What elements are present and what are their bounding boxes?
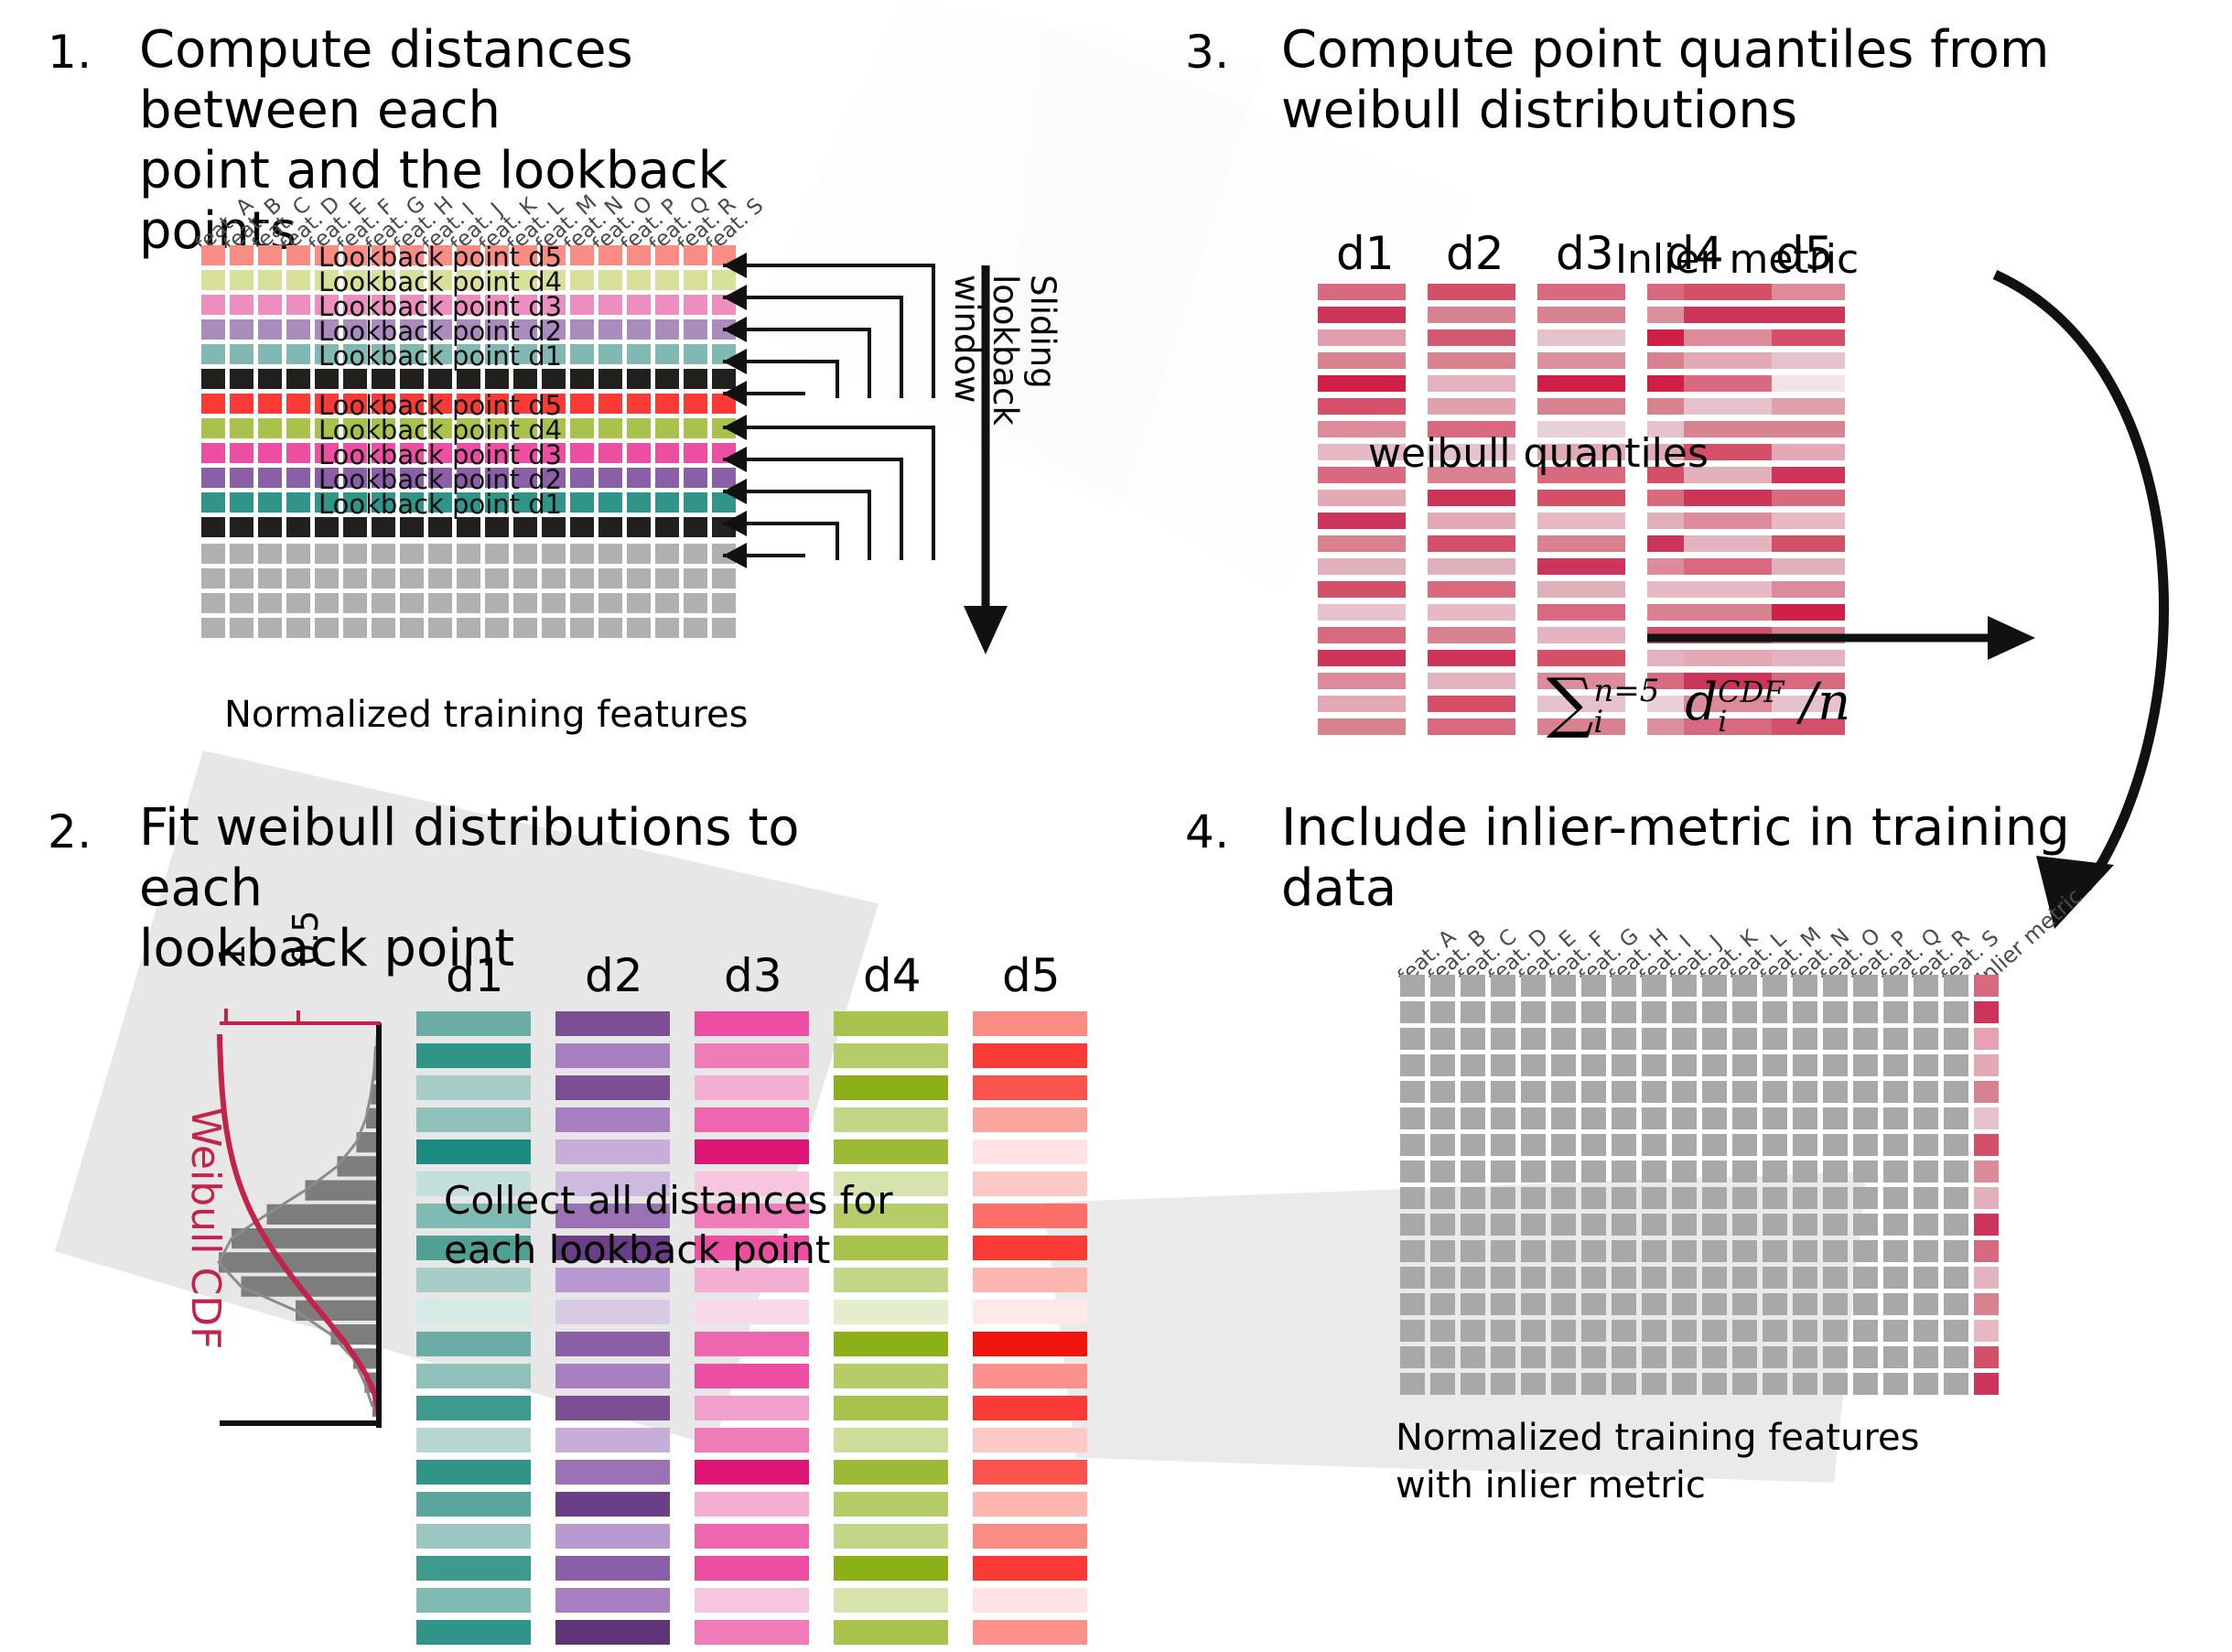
panel4-feature-cell [1853,1373,1878,1395]
panel2-bar [416,1620,531,1645]
panel4-feature-cell [1430,1107,1455,1129]
panel1-grey-cell [315,593,339,613]
panel1-grey-cell [627,593,651,613]
panel1-grey-cell [570,568,594,588]
panel4-inlier-metric-cell [1974,1081,1999,1103]
panel4-feature-cell [1702,1293,1727,1315]
panel1-cell [258,319,282,340]
panel2-bar [834,1139,948,1164]
panel1-grey-cell [201,618,225,638]
panel1-grey-cell [400,544,424,564]
panel4-row [1400,1214,1999,1236]
panel3-bar [1318,490,1406,506]
panel4-feature-cell [1914,1187,1938,1209]
panel2-bar [555,1043,670,1068]
panel2-column-d1 [416,1011,531,1652]
panel4-feature-cell [1944,1028,1968,1050]
panel1-grey-cell [485,618,509,638]
panel2-bar [695,1524,809,1549]
panel1-cell [230,369,253,389]
panel3-bar [1428,513,1515,529]
panel4-feature-cell [1914,1240,1938,1262]
panel4-feature-cell [1400,1214,1425,1236]
panel1-grey-cell [457,593,480,613]
panel4-feature-cell [1521,1293,1546,1315]
panel1-cell [201,492,225,513]
panel2-bar [555,1524,670,1549]
panel4-feature-cell [1581,1267,1606,1289]
panel4-feature-cell [1551,1267,1576,1289]
panel4-feature-cell [1612,1240,1636,1262]
panel4-feature-cell [1732,1107,1757,1129]
panel1-grey-cell [485,593,509,613]
panel4-feature-cell [1430,1028,1455,1050]
panel4-feature-cell [1521,1346,1546,1368]
panel2-bar [973,1172,1087,1196]
panel3-bar [1428,398,1515,415]
panel4-feature-cell [1672,1161,1697,1182]
panel2-bar [695,1011,809,1036]
panel1-cell [343,517,367,537]
panel1-cell [286,245,310,265]
panel4-feature-cell [1883,1240,1908,1262]
panel4-inlier-metric-cell [1974,1028,1999,1050]
panel4-feature-cell [1702,1346,1727,1368]
panel4-feature-cell [1763,1293,1787,1315]
panel1-cell [485,517,509,537]
panel4-feature-cell [1883,1001,1908,1023]
panel2-bar [695,1075,809,1100]
panel4-feature-cell [1612,1134,1636,1156]
panel2-bar [555,1300,670,1324]
panel1-grey-cell [655,544,679,564]
panel1-cell [684,344,707,364]
panel1-cell [457,369,480,389]
panel4-row [1400,1320,1999,1342]
panel4-feature-cell [1702,1107,1727,1129]
panel3-inlier-bar [1684,375,1772,392]
panel4-feature-cell [1642,1134,1666,1156]
panel2-bar [834,1620,948,1645]
panel2-bar [555,1332,670,1356]
panel4-inlier-metric-cell [1974,1001,1999,1023]
panel1-cell [655,270,679,290]
panel1-cell [598,245,622,265]
panel3-bar [1537,490,1625,506]
panel1-cell [627,245,651,265]
panel4-feature-cell [1672,1240,1697,1262]
panel2-bar [834,1428,948,1452]
panel2-column-label-d1: d1 [446,949,504,1002]
panel4-feature-cell [1430,1161,1455,1182]
step-4-title: Include inlier-metric in training data [1281,798,2105,919]
panel3-bar [1428,718,1515,735]
panel2-bar [555,1075,670,1100]
panel4-feature-cell [1461,1107,1485,1129]
panel2-bar [973,1107,1087,1132]
panel4-feature-cell [1914,975,1938,997]
panel4-feature-cell [1612,1161,1636,1182]
panel2-bar [973,1332,1087,1356]
panel4-feature-cell [1793,1001,1817,1023]
panel4-feature-cell [1612,1028,1636,1050]
panel4-feature-cell [1763,1187,1787,1209]
panel4-feature-cell [1581,1373,1606,1395]
panel1-cell [230,344,253,364]
panel4-feature-cell [1551,1214,1576,1236]
panel4-feature-cell [1400,975,1425,997]
panel4-feature-cell [1551,1293,1576,1315]
panel4-row [1400,1028,1999,1050]
panel4-feature-cell [1793,1054,1817,1076]
panel1-cell [286,418,310,438]
panel2-bar [973,1043,1087,1068]
panel4-feature-cell [1793,1293,1817,1315]
panel1-cell [286,517,310,537]
panel4-feature-cell [1944,1240,1968,1262]
panel3-bar [1428,673,1515,689]
panel4-feature-cell [1944,1373,1968,1395]
panel1-grey-row [201,568,740,588]
panel4-feature-cell [1702,1028,1727,1050]
panel1-cell [201,319,225,340]
panel4-feature-cell [1914,1373,1938,1395]
panel2-bar [555,1396,670,1420]
panel4-feature-cell [1883,1373,1908,1395]
panel4-feature-cell [1491,1346,1515,1368]
panel2-column-label-d3: d3 [724,949,782,1002]
panel2-bar [695,1588,809,1613]
panel1-grey-cell [542,618,566,638]
panel1-cell [684,468,707,488]
panel4-feature-cell [1612,1214,1636,1236]
panel4-feature-cell [1430,1240,1455,1262]
panel3-bar [1428,329,1515,346]
panel4-feature-cell [1702,1214,1727,1236]
panel1-grey-cell [684,618,707,638]
panel4-feature-cell [1491,1187,1515,1209]
panel4-feature-cell [1823,1240,1848,1262]
panel4-feature-cell [1672,1081,1697,1103]
panel2-bar [834,1043,948,1068]
panel4-feature-cell [1793,1373,1817,1395]
panel2-bar [973,1620,1087,1645]
panel1-cell [230,517,253,537]
panel2-bar [695,1556,809,1581]
panel4-feature-cell [1672,1028,1697,1050]
panel4-feature-cell [1763,1107,1787,1129]
panel4-feature-cell [1521,975,1546,997]
panel1-grey-cell [598,568,622,588]
panel1-cell [684,394,707,414]
panel1-cell [570,344,594,364]
panel2-bar [416,1556,531,1581]
panel1-grey-cell [258,544,282,564]
panel4-row [1400,1346,1999,1368]
panel4-feature-cell [1521,1028,1546,1050]
panel1-cell [400,369,424,389]
panel4-feature-cell [1793,1267,1817,1289]
panel1-cell [286,443,310,463]
panel1-cell [627,369,651,389]
panel1-cell [570,319,594,340]
panel4-feature-cell [1672,1293,1697,1315]
panel1-grey-cell [598,593,622,613]
panel1-grey-cell [485,544,509,564]
panel1-cell [258,418,282,438]
panel1-cell [598,344,622,364]
panel4-feature-cell [1581,1214,1606,1236]
panel1-cell [286,319,310,340]
panel4-feature-cell [1732,1214,1757,1236]
panel2-bar [834,1107,948,1132]
panel3-bar [1537,329,1625,346]
panel3-inlier-bar [1684,558,1772,575]
cdf-tick-1: 1 [212,944,253,966]
panel4-feature-cell [1551,1187,1576,1209]
panel3-bar [1318,398,1406,415]
panel4-feature-cell [1400,1373,1425,1395]
panel1-cell [598,394,622,414]
panel4-feature-cell [1612,1293,1636,1315]
panel1-cell [684,245,707,265]
panel4-feature-cell [1672,1373,1697,1395]
panel4-feature-cell [1461,1081,1485,1103]
panel2-bar [973,1396,1087,1420]
panel1-grey-cell [428,593,452,613]
panel1-cell [684,369,707,389]
panel4-feature-cell [1732,1028,1757,1050]
panel4-feature-cell [1581,1028,1606,1050]
panel3-column-label-d1: d1 [1336,227,1395,280]
panel1-grey-cell [542,593,566,613]
panel3-bar [1318,696,1406,712]
panel1-grey-cell [315,544,339,564]
panel2-bar [695,1043,809,1068]
panel1-grey-cell [230,593,253,613]
panel4-feature-cell [1702,1267,1727,1289]
panel4-feature-cell [1672,1267,1697,1289]
panel4-inlier-metric-cell [1974,1320,1999,1342]
formula-superscript: CDF [1718,677,1784,707]
panel3-inlier-bar [1684,284,1772,300]
panel4-feature-cell [1642,1267,1666,1289]
panel4-feature-cell [1702,1320,1727,1342]
panel3-bar [1318,307,1406,323]
panel1-grey-cell [684,568,707,588]
panel1-grey-cell [343,593,367,613]
panel4-feature-cell [1521,1054,1546,1076]
panel4-inlier-metric-cell [1974,1107,1999,1129]
panel4-feature-cell [1551,1028,1576,1050]
panel4-feature-cell [1914,1107,1938,1129]
panel1-grey-cell [457,568,480,588]
panel3-bar [1428,696,1515,712]
panel2-bar [973,1460,1087,1485]
panel4-feature-cell [1763,1373,1787,1395]
panel4-feature-cell [1521,1373,1546,1395]
panel4-feature-cell [1461,1346,1485,1368]
panel1-cell [627,344,651,364]
panel2-bar [416,1492,531,1517]
panel4-feature-cell [1642,1320,1666,1342]
panel1-cell [230,245,253,265]
panel1-cell [570,492,594,513]
panel4-feature-cell [1883,1028,1908,1050]
panel4-feature-cell [1400,1187,1425,1209]
panel4-feature-cell [1793,1187,1817,1209]
panel4-feature-cell [1642,1001,1666,1023]
panel4-feature-cell [1551,1240,1576,1262]
panel4-feature-cell [1823,975,1848,997]
panel1-cell [201,270,225,290]
panel4-inlier-metric-cell [1974,1134,1999,1156]
panel4-feature-cell [1430,1373,1455,1395]
panel4-row [1400,1001,1999,1023]
panel2-bar [973,1588,1087,1613]
panel2-bar [416,1524,531,1549]
panel4-feature-cell [1883,1161,1908,1182]
panel4-feature-cell [1883,1134,1908,1156]
panel4-feature-cell [1430,1320,1455,1342]
panel4-feature-cell [1763,1346,1787,1368]
panel3-bar [1537,513,1625,529]
panel2-bar [834,1011,948,1036]
panel4-feature-cell [1642,1346,1666,1368]
panel4-feature-cell [1461,1240,1485,1262]
panel2-bar [973,1300,1087,1324]
panel4-feature-cell [1581,1293,1606,1315]
panel3-inlier-bar [1684,490,1772,506]
panel1-cell [627,394,651,414]
panel1-cell [684,295,707,315]
panel4-feature-cell [1672,1054,1697,1076]
panel2-bar [834,1524,948,1549]
panel4-feature-cell [1461,1161,1485,1182]
panel1-grey-cell [570,618,594,638]
panel4-feature-cell [1612,975,1636,997]
panel1-grey-cell [513,593,537,613]
panel4-feature-cell [1853,1028,1878,1050]
panel1-cell [684,418,707,438]
panel1-row [201,517,740,537]
panel1-cell [258,295,282,315]
panel1-grey-cell [598,618,622,638]
panel1-grey-cell [542,544,566,564]
panel1-grey-cell [513,568,537,588]
panel4-feature-cell [1461,1214,1485,1236]
panel1-grey-cell [201,593,225,613]
histogram-bar [219,1252,379,1272]
panel1-cell [655,344,679,364]
panel3-bar [1537,558,1625,575]
panel2-bar [695,1107,809,1132]
panel1-cell [598,517,622,537]
panel4-feature-cell [1430,1081,1455,1103]
panel4-feature-cell [1914,1081,1938,1103]
panel4-feature-cell [1732,1346,1757,1368]
panel1-cell [230,492,253,513]
panel4-feature-cell [1642,1293,1666,1315]
panel4-inlier-metric-cell [1974,1214,1999,1236]
panel4-feature-cell [1823,1028,1848,1050]
panel1-grey-cell [598,544,622,564]
panel1-cell [570,295,594,315]
panel4-feature-cell [1732,975,1757,997]
panel1-grey-cell [627,618,651,638]
sigma-symbol: ∑ [1547,664,1593,740]
panel4-feature-cell [1581,1320,1606,1342]
panel2-column-d2 [555,1011,670,1652]
panel4-feature-cell [1823,1293,1848,1315]
panel4-inlier-metric-cell [1974,975,1999,997]
panel3-bar [1428,375,1515,392]
panel3-inlier-bar [1684,398,1772,415]
panel1-cell [570,468,594,488]
panel1-cell [570,517,594,537]
panel1-cell [655,319,679,340]
panel1-cell [286,394,310,414]
panel4-feature-cell [1944,1293,1968,1315]
panel4-feature-cell [1914,1320,1938,1342]
panel3-inlier-metric-label: Inlier metric [1615,236,1859,283]
panel4-feature-cell [1823,1107,1848,1129]
panel1-cell [684,492,707,513]
panel4-feature-cell [1612,1187,1636,1209]
panel2-bar [973,1204,1087,1228]
panel3-inlier-bar [1684,513,1772,529]
panel3-bar [1318,513,1406,529]
panel1-grey-cell [655,568,679,588]
panel1-cell [230,319,253,340]
panel4-feature-cell [1672,1107,1697,1129]
panel1-cell [570,394,594,414]
panel1-cell [457,517,480,537]
panel4-feature-cell [1732,1054,1757,1076]
panel4-feature-cell [1672,975,1697,997]
panel4-feature-cell [1702,975,1727,997]
panel4-row [1400,1081,1999,1103]
panel3-column-label-d2: d2 [1446,227,1504,280]
panel4-feature-cell [1400,1134,1425,1156]
sliding-lookback-window-label: Sliding lookback window [948,275,1062,426]
panel1-cell [201,418,225,438]
panel4-feature-cell [1883,1054,1908,1076]
panel2-column-d4 [834,1011,948,1652]
panel4-feature-cell [1612,1267,1636,1289]
panel3-bar [1537,307,1625,323]
panel4-feature-cell [1732,1293,1757,1315]
panel1-grey-cell [684,593,707,613]
panel3-bar [1318,627,1406,643]
panel1-cell [655,369,679,389]
panel2-bar [555,1620,670,1645]
formula-tail: /n [1800,673,1850,732]
panel1-cell [201,443,225,463]
panel1-cell [372,369,395,389]
panel4-feature-cell [1400,1293,1425,1315]
panel3-bar [1428,352,1515,369]
panel2-bar [555,1428,670,1452]
panel3-bar [1537,581,1625,598]
panel4-feature-cell [1642,1161,1666,1182]
panel4-feature-cell [1763,1161,1787,1182]
lookback-point-row-label: Lookback point d1 [318,489,562,520]
panel4-feature-cell [1461,1293,1485,1315]
panel1-grey-cell [343,618,367,638]
panel4-feature-cell [1612,1107,1636,1129]
panel1-grey-cell [230,568,253,588]
